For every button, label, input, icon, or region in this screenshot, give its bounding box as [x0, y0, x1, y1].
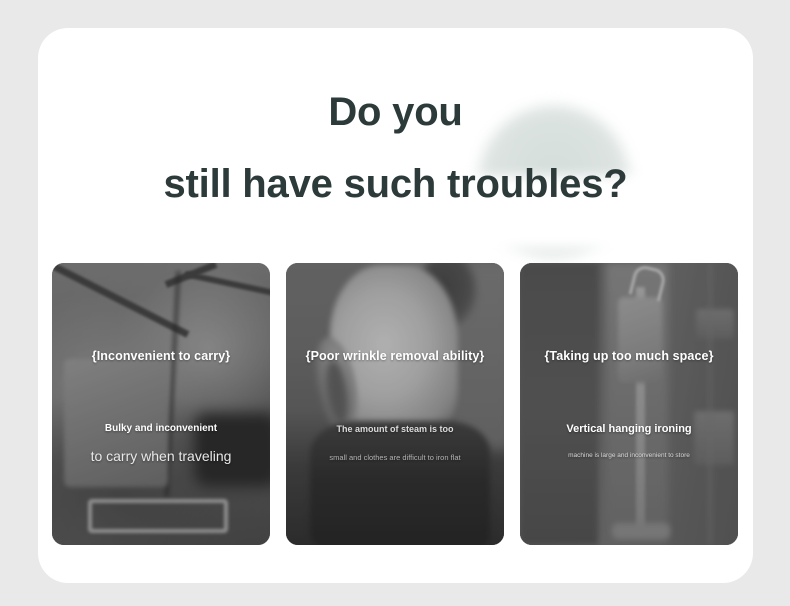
trouble-cards-row: {Inconvenient to carry} Bulky and inconv…	[52, 263, 738, 545]
card-subtitle-line-2: to carry when traveling	[52, 448, 270, 464]
page-title: Do you still have such troubles?	[38, 28, 753, 204]
trouble-card[interactable]: {Inconvenient to carry} Bulky and inconv…	[52, 263, 270, 545]
page-root: Do you still have such troubles?	[0, 0, 790, 606]
content-panel: Do you still have such troubles?	[38, 28, 753, 583]
card-subtitle-line-1: The amount of steam is too	[286, 424, 504, 434]
trouble-card[interactable]: {Taking up too much space} Vertical hang…	[520, 263, 738, 545]
card-title: {Taking up too much space}	[520, 349, 738, 363]
page-title-line-2: still have such troubles?	[38, 132, 753, 204]
card-title: {Poor wrinkle removal ability}	[286, 349, 504, 363]
card-text-overlay: {Poor wrinkle removal ability} The amoun…	[286, 263, 504, 545]
card-text-overlay: {Taking up too much space} Vertical hang…	[520, 263, 738, 545]
card-title: {Inconvenient to carry}	[52, 349, 270, 363]
card-subtitle-line-2: machine is large and inconvenient to sto…	[520, 452, 738, 459]
card-text-overlay: {Inconvenient to carry} Bulky and inconv…	[52, 263, 270, 545]
page-title-line-1: Do you	[38, 28, 753, 132]
card-subtitle-line-2: small and clothes are difficult to iron …	[286, 453, 504, 462]
card-subtitle-line-1: Bulky and inconvenient	[52, 423, 270, 434]
heading-section: Do you still have such troubles?	[38, 28, 753, 236]
trouble-card[interactable]: {Poor wrinkle removal ability} The amoun…	[286, 263, 504, 545]
card-subtitle-line-1: Vertical hanging ironing	[520, 423, 738, 435]
